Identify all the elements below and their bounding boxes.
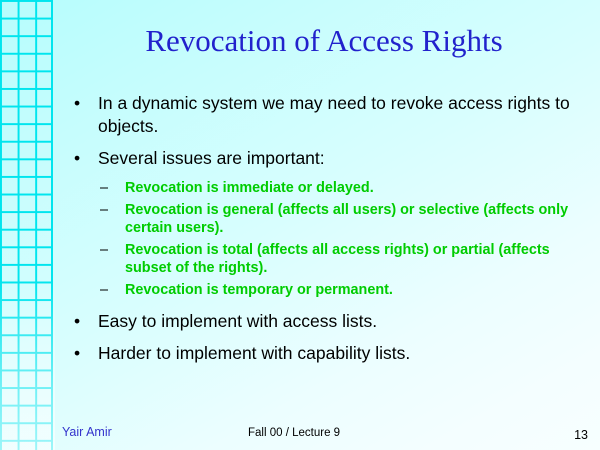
bullet-marker-dot: • bbox=[74, 342, 80, 365]
slide-body: • In a dynamic system we may need to rev… bbox=[0, 92, 600, 374]
bullet-marker-dot: • bbox=[74, 147, 80, 170]
bullet-text: In a dynamic system we may need to revok… bbox=[98, 93, 570, 136]
bullet-item-1: • In a dynamic system we may need to rev… bbox=[0, 92, 600, 138]
bullet-text: Harder to implement with capability list… bbox=[98, 343, 410, 363]
sub-bullet-item-2: – Revocation is general (affects all use… bbox=[0, 201, 600, 238]
sub-bullet-item-3: – Revocation is total (affects all acces… bbox=[0, 241, 600, 278]
sub-bullet-item-4: – Revocation is temporary or permanent. bbox=[0, 281, 600, 300]
sub-bullet-text: Revocation is temporary or permanent. bbox=[125, 282, 393, 298]
bullet-marker-dot: • bbox=[74, 92, 80, 115]
bullet-marker-dot: • bbox=[74, 310, 80, 333]
bullet-item-4: • Harder to implement with capability li… bbox=[0, 342, 600, 365]
bullet-item-2: • Several issues are important: bbox=[0, 147, 600, 170]
footer-course-info: Fall 00 / Lecture 9 bbox=[248, 427, 340, 439]
bullet-text: Easy to implement with access lists. bbox=[98, 311, 377, 331]
bullet-marker-dash: – bbox=[100, 201, 108, 220]
sub-bullet-text: Revocation is total (affects all access … bbox=[125, 242, 550, 277]
footer-author: Yair Amir bbox=[62, 425, 112, 439]
page-title: Revocation of Access Rights bbox=[60, 23, 588, 59]
footer-page-number: 13 bbox=[574, 428, 588, 442]
bullet-text: Several issues are important: bbox=[98, 148, 325, 168]
bullet-item-3: • Easy to implement with access lists. bbox=[0, 310, 600, 333]
slide-canvas: Revocation of Access Rights • In a dynam… bbox=[0, 0, 600, 450]
bullet-marker-dash: – bbox=[100, 241, 108, 260]
bullet-marker-dash: – bbox=[100, 281, 108, 300]
sub-bullet-item-1: – Revocation is immediate or delayed. bbox=[0, 179, 600, 198]
bullet-marker-dash: – bbox=[100, 179, 108, 198]
sub-bullet-text: Revocation is general (affects all users… bbox=[125, 202, 568, 237]
sub-bullet-text: Revocation is immediate or delayed. bbox=[125, 180, 374, 196]
